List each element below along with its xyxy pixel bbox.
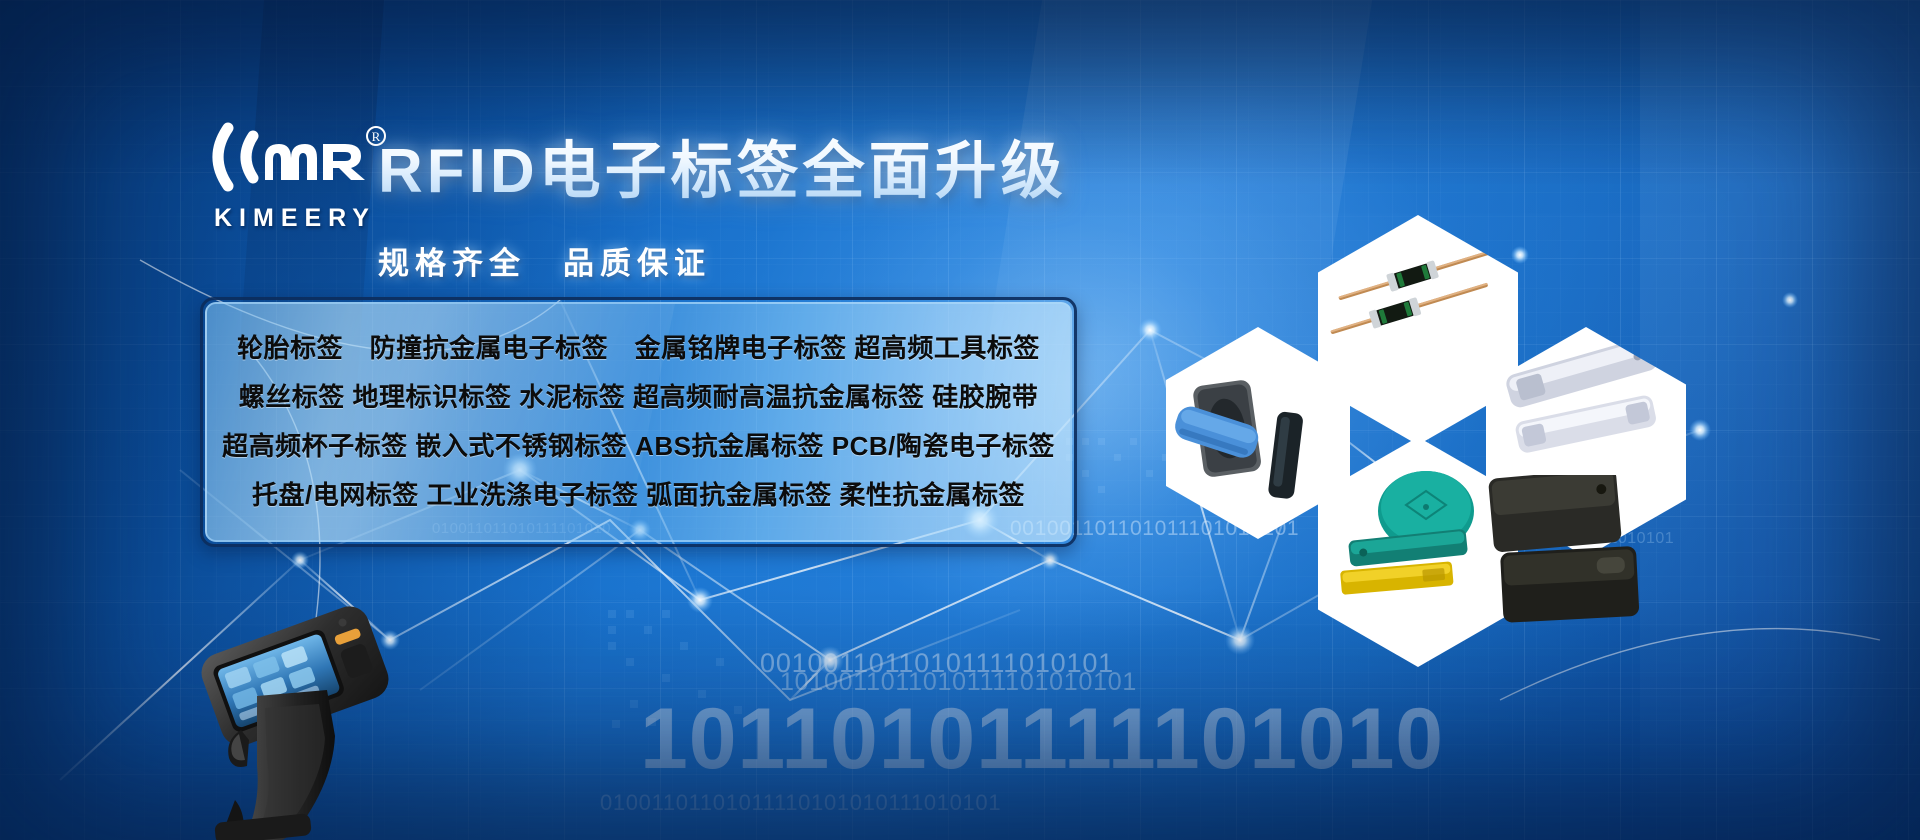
circuit-pattern-left <box>600 600 800 750</box>
product-list-panel: 轮胎标签 防撞抗金属电子标签 金属铭牌电子标签 超高频工具标签 螺丝标签 地理标… <box>200 297 1077 547</box>
page-title: RFID电子标签全面升级 <box>378 120 1067 210</box>
binary-decoration-4: 01001101101011110101010111010101 <box>600 790 1001 816</box>
binary-decoration-3: 1010011011010111101010101 <box>780 668 1137 697</box>
binary-decoration-large: 10110101111101010 <box>640 690 1444 789</box>
black-abs-anti-metal-tag-image <box>1482 475 1682 645</box>
product-list-row: 轮胎标签 防撞抗金属电子标签 金属铭牌电子标签 超高频工具标签 <box>207 324 1070 373</box>
subtitle: 规格齐全 品质保证 <box>378 238 711 283</box>
kimeery-wave-mark-icon: R <box>195 118 395 196</box>
product-list-inner: 轮胎标签 防撞抗金属电子标签 金属铭牌电子标签 超高频工具标签 螺丝标签 地理标… <box>205 302 1072 542</box>
product-list-row: 螺丝标签 地理标识标签 水泥标签 超高频耐高温抗金属标签 硅胶腕带 <box>207 373 1070 422</box>
product-list-row: 超高频杯子标签 嵌入式不锈钢标签 ABS抗金属标签 PCB/陶瓷电子标签 <box>207 422 1070 471</box>
binary-decoration-2: 00100110110101111010101 <box>760 648 1114 679</box>
rfid-promo-banner: 10110101111101010 0010011011010111010101… <box>0 0 1920 840</box>
product-list-row: 托盘/电网标签 工业洗涤电子标签 弧面抗金属标签 柔性抗金属标签 <box>207 471 1070 520</box>
product-hexagon-cluster <box>1150 175 1830 635</box>
handheld-rfid-reader <box>185 600 445 840</box>
